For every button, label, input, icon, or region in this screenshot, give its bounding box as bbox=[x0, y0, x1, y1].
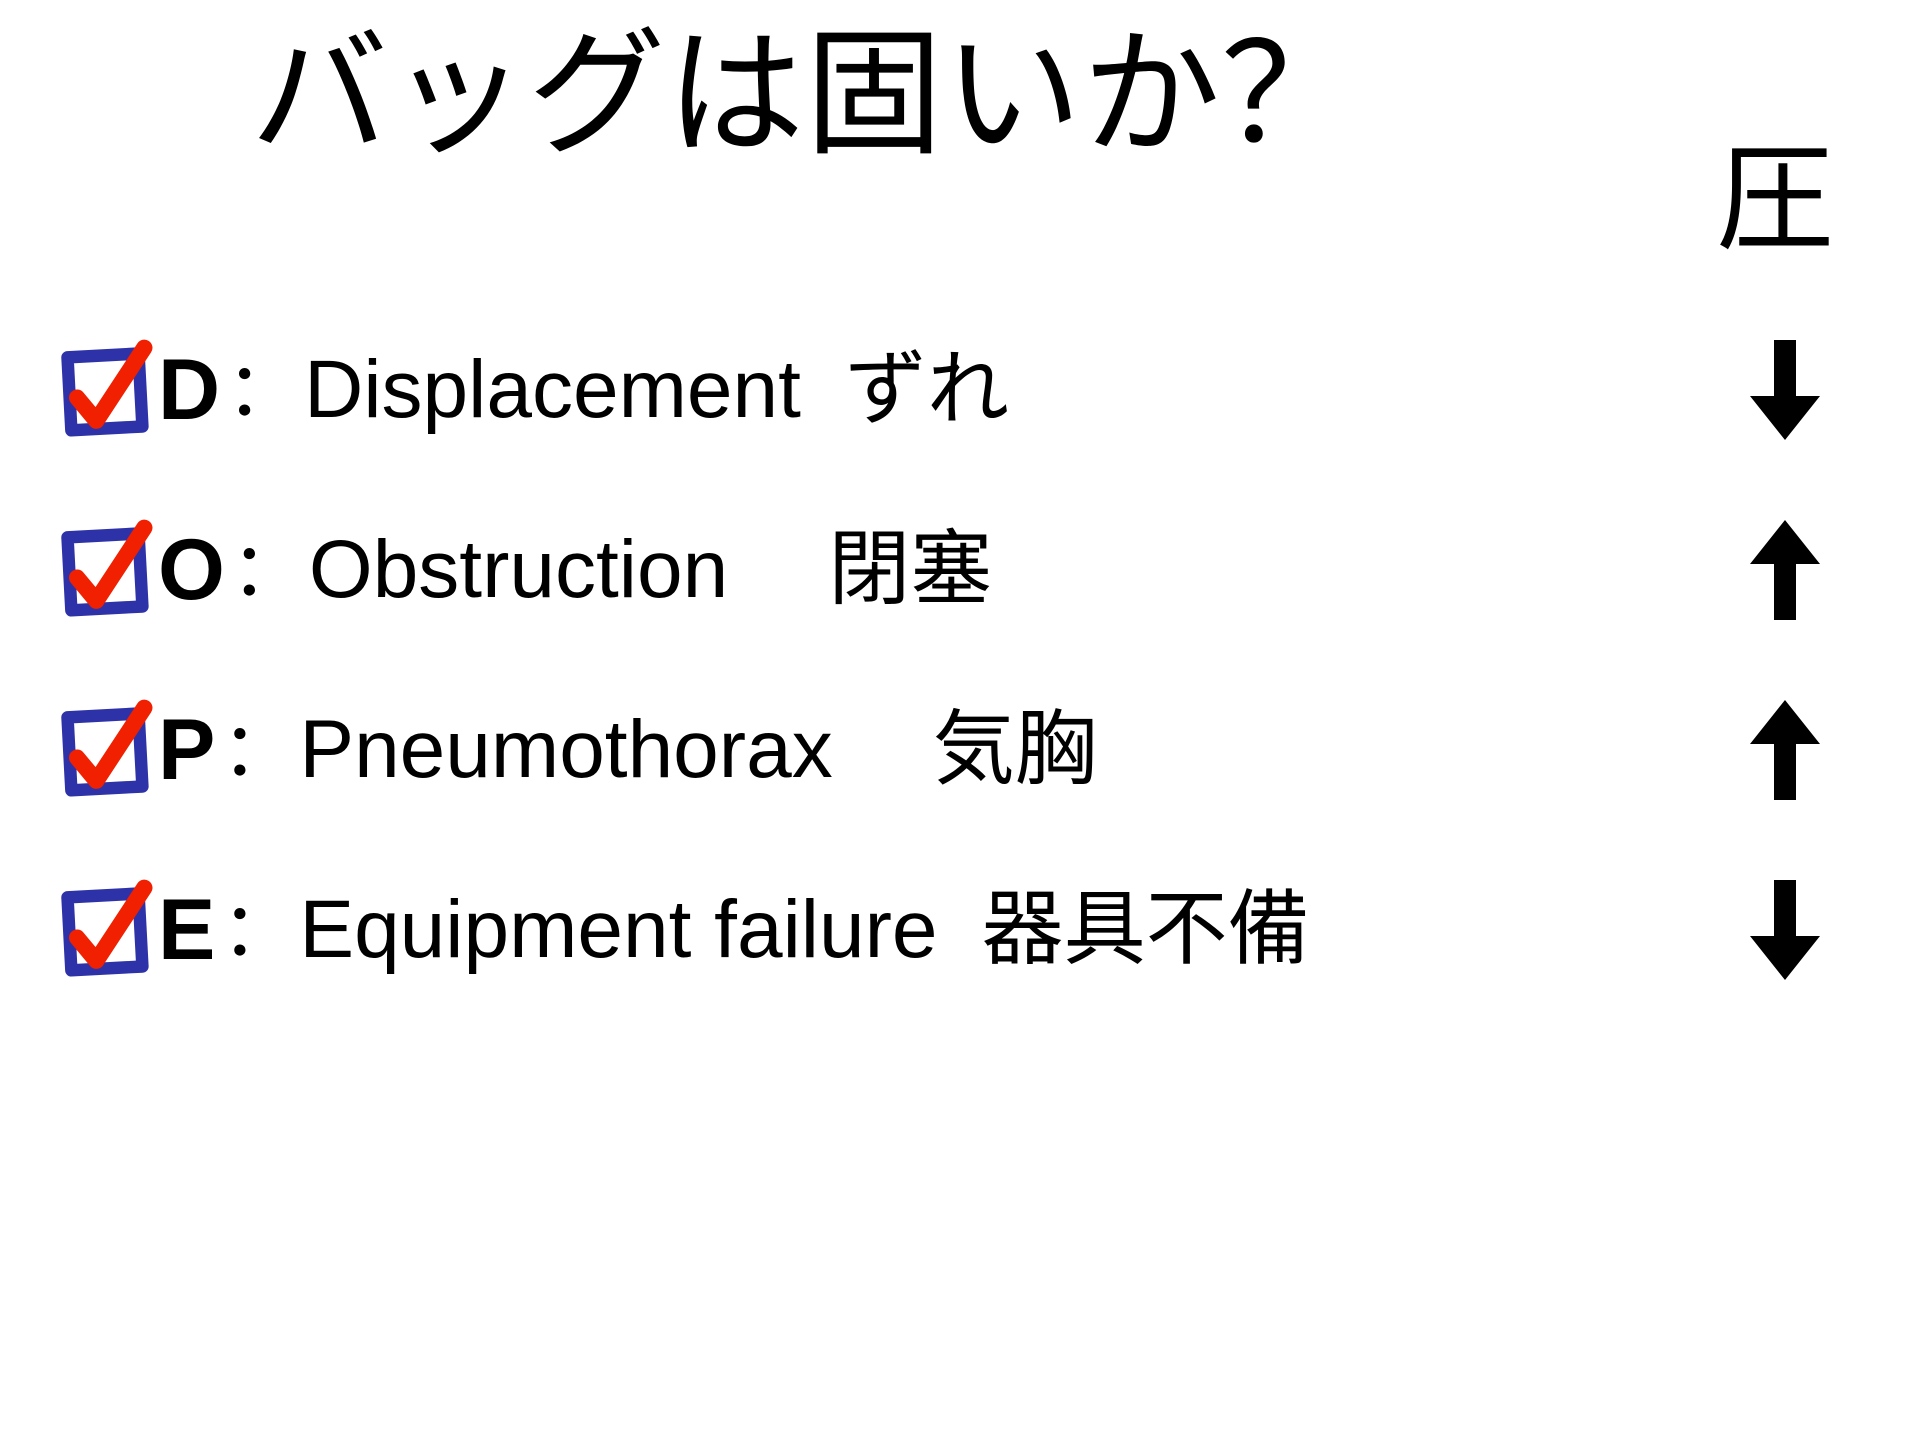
list-item-colon: ： bbox=[226, 353, 300, 427]
list-item-letter: E bbox=[158, 887, 215, 973]
dope-checklist: D ： Displacement ずれ O bbox=[0, 300, 1920, 1020]
arrow-down-icon bbox=[1746, 338, 1824, 442]
pressure-indicator-cell bbox=[1650, 518, 1920, 622]
list-item[interactable]: O ： Obstruction 閉塞 bbox=[0, 480, 1920, 660]
list-item-term: Displacement bbox=[304, 349, 801, 431]
list-item-letter: P bbox=[158, 707, 215, 793]
arrow-down-icon bbox=[1746, 878, 1824, 982]
list-item-term: Obstruction bbox=[309, 529, 728, 611]
list-item-content: P ： Pneumothorax 気胸 bbox=[0, 702, 1650, 798]
checked-checkbox-icon[interactable] bbox=[56, 882, 152, 978]
list-item-japanese: 気胸 bbox=[851, 709, 1097, 791]
page-title: バッグは固いか？ bbox=[0, 26, 1610, 164]
list-item-content: E ： Equipment failure 器具不備 bbox=[0, 882, 1650, 978]
list-item-japanese: ずれ bbox=[819, 349, 1009, 431]
arrow-up-icon bbox=[1746, 698, 1824, 802]
list-item[interactable]: E ： Equipment failure 器具不備 bbox=[0, 840, 1920, 1020]
list-item-term: Pneumothorax bbox=[299, 709, 832, 791]
list-item-colon: ： bbox=[221, 713, 295, 787]
list-item-content: O ： Obstruction 閉塞 bbox=[0, 522, 1650, 618]
list-item-colon: ： bbox=[231, 533, 305, 607]
checked-checkbox-icon[interactable] bbox=[56, 702, 152, 798]
list-item-japanese: 閉塞 bbox=[746, 529, 992, 611]
list-item-term: Equipment failure bbox=[299, 889, 937, 971]
list-item-content: D ： Displacement ずれ bbox=[0, 342, 1650, 438]
list-item[interactable]: D ： Displacement ずれ bbox=[0, 300, 1920, 480]
slide-canvas: バッグは固いか？ 圧 D ： Displacement ずれ bbox=[0, 0, 1920, 1440]
pressure-indicator-cell bbox=[1650, 878, 1920, 982]
checked-checkbox-icon[interactable] bbox=[56, 522, 152, 618]
checked-checkbox-icon[interactable] bbox=[56, 342, 152, 438]
pressure-indicator-cell bbox=[1650, 698, 1920, 802]
list-item-letter: O bbox=[158, 527, 225, 613]
list-item[interactable]: P ： Pneumothorax 気胸 bbox=[0, 660, 1920, 840]
arrow-up-icon bbox=[1746, 518, 1824, 622]
pressure-column-header: 圧 bbox=[1640, 140, 1910, 258]
list-item-colon: ： bbox=[221, 893, 295, 967]
list-item-japanese: 器具不備 bbox=[956, 889, 1310, 971]
list-item-letter: D bbox=[158, 347, 220, 433]
slide-title-container: バッグは固いか？ bbox=[0, 26, 1610, 164]
pressure-indicator-cell bbox=[1650, 338, 1920, 442]
